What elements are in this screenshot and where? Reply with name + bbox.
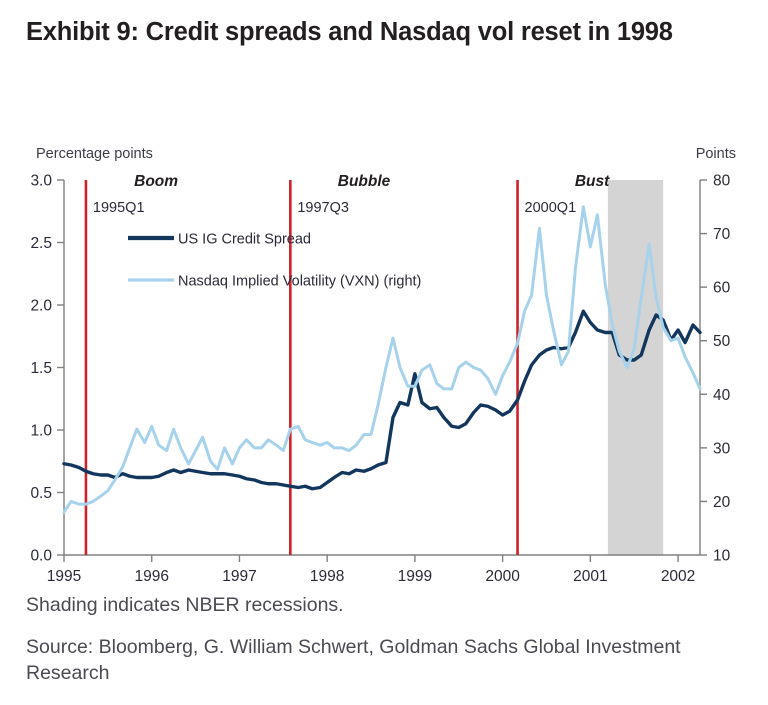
right-axis-tick-label: 30 [713, 440, 731, 457]
shading-note: Shading indicates NBER recessions. [26, 592, 738, 618]
marker-label: 1997Q3 [297, 200, 349, 216]
source-note: Source: Bloomberg, G. William Schwert, G… [26, 634, 738, 686]
page-title: Exhibit 9: Credit spreads and Nasdaq vol… [26, 14, 736, 50]
right-axis-unit-label: Points [696, 146, 736, 162]
x-axis-tick-label: 2001 [573, 568, 607, 585]
left-axis-tick-label: 2.0 [30, 298, 52, 315]
x-axis-tick-label: 1995 [47, 568, 81, 585]
x-axis-tick-label: 1999 [398, 568, 432, 585]
left-axis-tick-label: 0.0 [30, 548, 52, 565]
chart-area: Percentage pointsPoints0.00.51.01.52.02.… [0, 130, 768, 585]
x-axis-tick-label: 1998 [310, 568, 344, 585]
left-axis-tick-label: 2.5 [30, 235, 52, 252]
right-axis-tick-label: 40 [713, 387, 731, 404]
phase-label: Boom [134, 173, 178, 190]
phase-label: Bubble [338, 173, 391, 190]
x-axis-tick-label: 2002 [661, 568, 695, 585]
right-axis-tick-label: 60 [713, 280, 731, 297]
left-axis-unit-label: Percentage points [36, 146, 153, 162]
right-axis-tick-label: 50 [713, 333, 731, 350]
marker-label: 1995Q1 [93, 200, 145, 216]
left-axis-tick-label: 1.0 [30, 423, 52, 440]
right-axis-tick-label: 20 [713, 494, 731, 511]
left-axis-tick-label: 1.5 [30, 360, 52, 377]
right-axis-tick-label: 10 [713, 548, 731, 565]
phase-label: Bust [575, 173, 610, 190]
series-line-2 [64, 207, 700, 512]
marker-label: 2000Q1 [525, 200, 577, 216]
left-axis-tick-label: 0.5 [30, 485, 52, 502]
right-axis-tick-label: 70 [713, 226, 731, 243]
x-axis-tick-label: 2000 [485, 568, 520, 585]
exhibit-container: Exhibit 9: Credit spreads and Nasdaq vol… [0, 0, 768, 705]
left-axis-tick-label: 3.0 [30, 173, 52, 190]
x-axis-tick-label: 1996 [134, 568, 168, 585]
series-line-1 [64, 311, 700, 489]
right-axis-tick-label: 80 [713, 173, 731, 190]
x-axis-tick-label: 1997 [222, 568, 256, 585]
legend-label-1: US IG Credit Spread [178, 232, 311, 248]
credit-spread-vxn-chart: Percentage pointsPoints0.00.51.01.52.02.… [0, 130, 768, 585]
legend-label-2: Nasdaq Implied Volatility (VXN) (right) [178, 274, 421, 290]
recession-shading [608, 180, 663, 555]
